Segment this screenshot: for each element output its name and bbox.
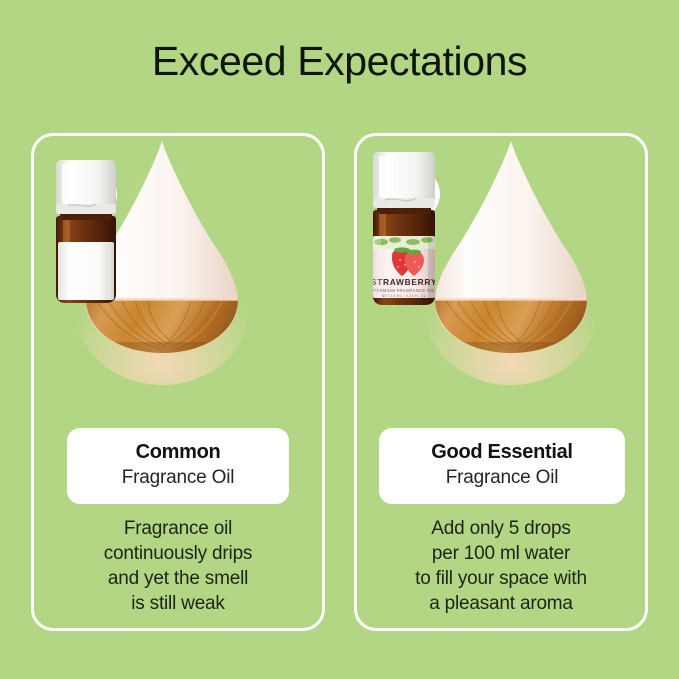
page-title: Exceed Expectations	[0, 36, 679, 86]
comparison-infographic: Exceed Expectations	[0, 0, 679, 679]
plate-title: Good Essential	[389, 440, 615, 465]
bottle-label-blank	[58, 242, 114, 300]
diffuser-and-strawberry-bottle-illustration: STRAWBERRY PREMIUM FRAGRANCE OIL NET 10 …	[357, 136, 645, 416]
plate-title: Common	[77, 440, 279, 465]
bottle-label-volume: NET 10 ML / 0.33 FL OZ	[382, 294, 427, 298]
product-image-common	[34, 136, 322, 416]
product-image-good-essential: STRAWBERRY PREMIUM FRAGRANCE OIL NET 10 …	[357, 136, 645, 416]
product-name-plate-good-essential: Good Essential Fragrance Oil	[379, 428, 625, 504]
card-description-common: Fragrance oil continuously drips and yet…	[42, 516, 314, 616]
comparison-card-common: Common Fragrance Oil Fragrance oil conti…	[31, 133, 325, 631]
plate-subtitle: Fragrance Oil	[389, 465, 615, 490]
comparison-card-good-essential: STRAWBERRY PREMIUM FRAGRANCE OIL NET 10 …	[354, 133, 648, 631]
fragrance-oil-bottle-strawberry: STRAWBERRY PREMIUM FRAGRANCE OIL NET 10 …	[371, 152, 437, 305]
fragrance-oil-bottle-plain	[56, 160, 116, 303]
plate-subtitle: Fragrance Oil	[77, 465, 279, 490]
bottle-label-descriptor: PREMIUM FRAGRANCE OIL	[373, 288, 435, 293]
card-description-good-essential: Add only 5 drops per 100 ml water to fil…	[365, 516, 637, 616]
product-name-plate-common: Common Fragrance Oil	[67, 428, 289, 504]
diffuser-and-bottle-illustration	[34, 136, 322, 416]
